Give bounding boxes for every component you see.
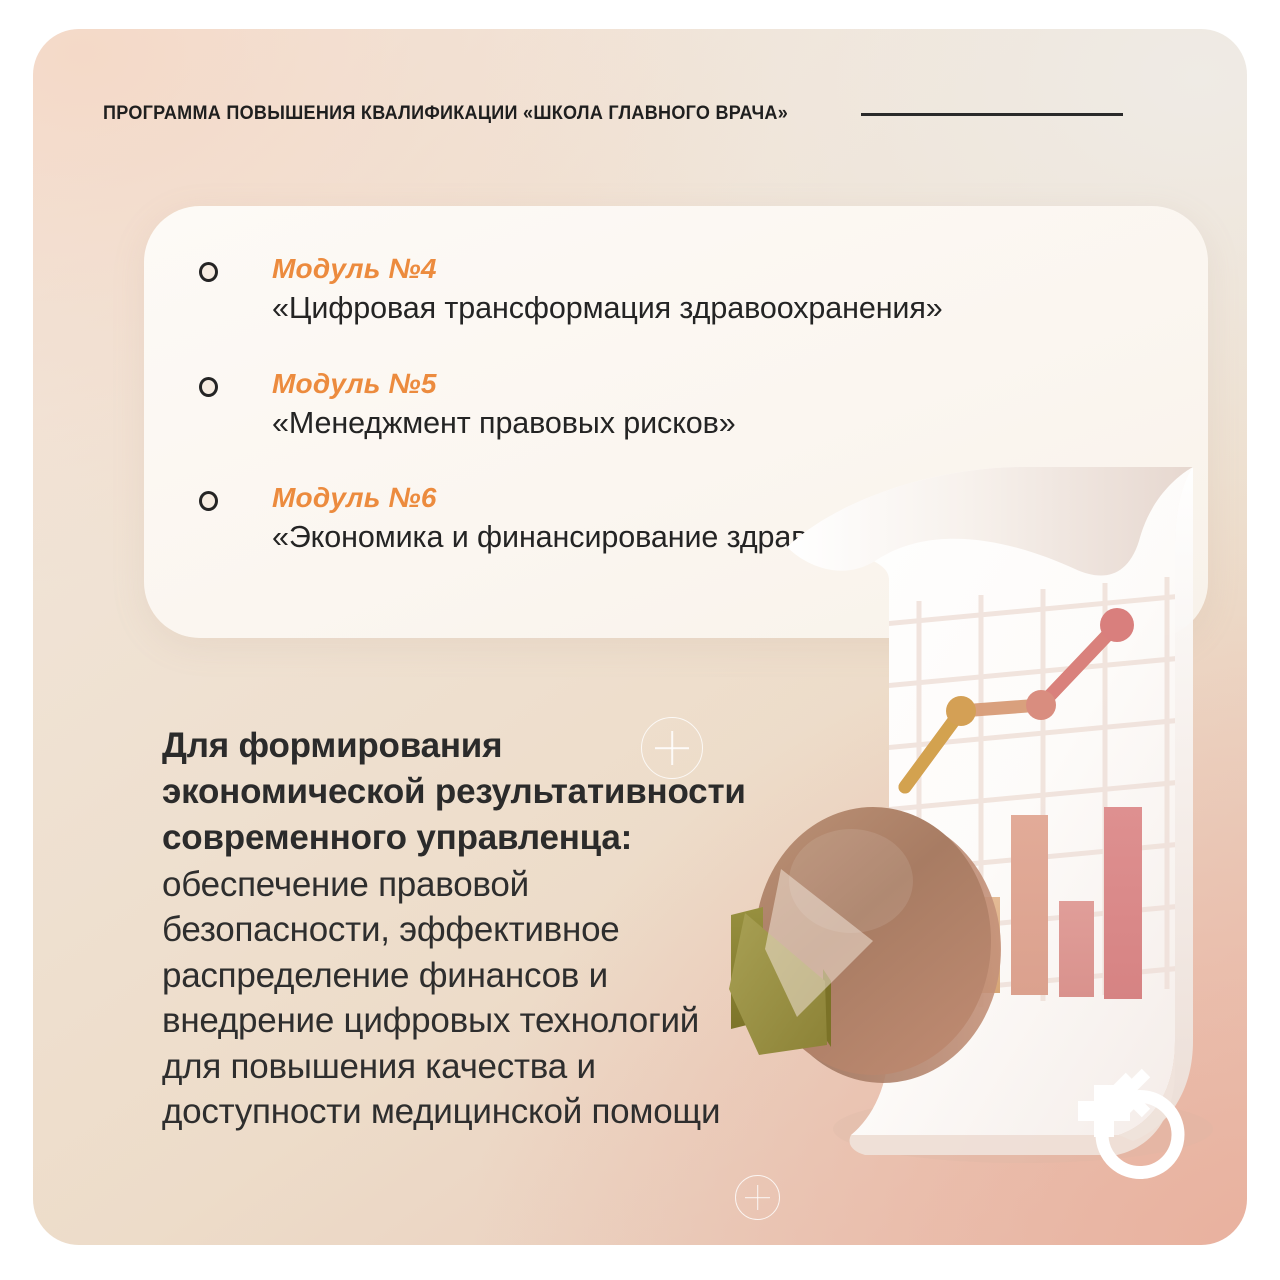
module-title: «Цифровая трансформация здравоохранения» (272, 289, 1168, 329)
module-number-label: Модуль №6 (272, 481, 1168, 514)
module-number-label: Модуль №5 (272, 367, 1168, 400)
bar (966, 897, 1000, 993)
pie-chart (729, 807, 1001, 1083)
list-item[interactable]: Модуль №5 «Менеджмент правовых рисков» (192, 367, 1168, 444)
circle-outline-bullet-icon (199, 491, 218, 511)
module-list: Модуль №4 «Цифровая трансформация здраво… (192, 252, 1168, 558)
circle-outline-bullet-icon (199, 262, 218, 282)
bar (1104, 807, 1142, 999)
list-item[interactable]: Модуль №4 «Цифровая трансформация здраво… (192, 252, 1168, 329)
medical-cross-rotation-logo (1056, 1063, 1192, 1187)
circle-outline-bullet-icon (199, 377, 218, 397)
module-title: «Экономика и финансирование здравоохране… (272, 518, 1168, 558)
header-rule (861, 113, 1123, 116)
pie-slice-main (755, 807, 991, 1075)
circle-plus-icon (735, 1175, 780, 1220)
bar-chart (921, 807, 1142, 999)
circle-plus-icon (641, 717, 703, 779)
header: ПРОГРАММА ПОВЫШЕНИЯ КВАЛИФИКАЦИИ «ШКОЛА … (103, 97, 1177, 129)
bar (921, 879, 955, 991)
page-title: ПРОГРАММА ПОВЫШЕНИЯ КВАЛИФИКАЦИИ «ШКОЛА … (103, 102, 788, 125)
line-marker (1026, 690, 1056, 720)
body-copy: Для формирования экономической результат… (162, 723, 762, 1135)
bar (1011, 815, 1048, 995)
module-number-label: Модуль №4 (272, 252, 1168, 285)
line-marker (946, 696, 976, 726)
poster-card: ПРОГРАММА ПОВЫШЕНИЯ КВАЛИФИКАЦИИ «ШКОЛА … (33, 29, 1247, 1245)
chart-grid (873, 577, 1193, 1013)
module-title: «Менеджмент правовых рисков» (272, 404, 1168, 444)
body-detail-text: обеспечение правовой безопасности, эффек… (162, 862, 762, 1135)
bar (1059, 901, 1094, 997)
modules-card: Модуль №4 «Цифровая трансформация здраво… (144, 206, 1208, 638)
list-item[interactable]: Модуль №6 «Экономика и финансирование зд… (192, 481, 1168, 558)
